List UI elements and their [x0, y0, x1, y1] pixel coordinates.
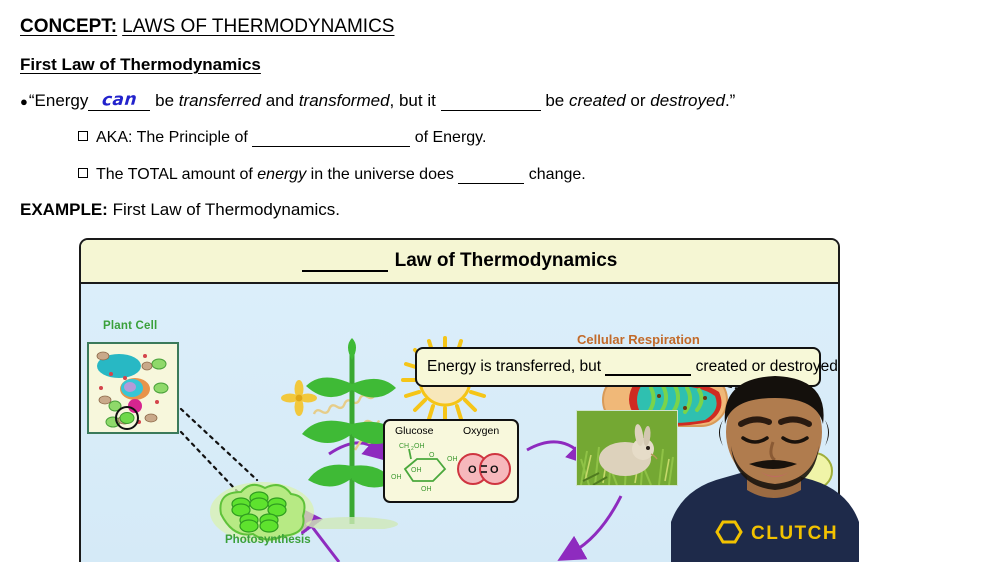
square-bullet-icon — [78, 168, 88, 178]
plant-cell-diagram — [87, 342, 179, 434]
first-law-statement: ●“Energycan be transferred and transform… — [20, 90, 735, 111]
quote-italic-transformed: transformed — [299, 91, 390, 110]
sub-bullet-total: The TOTAL amount of energy in the univer… — [78, 166, 586, 184]
svg-text:OH: OH — [414, 443, 425, 450]
diagram-header: Law of Thermodynamics — [81, 240, 838, 284]
total-text-2: in the universe does — [311, 166, 454, 183]
energy-part1: Energy is transferred, but — [427, 358, 601, 375]
svg-text:OH: OH — [391, 474, 402, 481]
quote-italic-transferred: transferred — [179, 91, 261, 110]
bullet-icon: ● — [20, 94, 28, 109]
concept-title: LAWS OF THERMODYNAMICS — [122, 16, 394, 37]
total-blank — [458, 183, 524, 184]
example-text: First Law of Thermodynamics. — [113, 200, 340, 219]
svg-text:OH: OH — [421, 486, 432, 493]
quote-blank-1 — [441, 110, 541, 111]
aka-text-2: of Energy. — [415, 129, 487, 146]
cellular-respiration-label: Cellular Respiration — [577, 332, 700, 347]
oxygen-label: Oxygen — [463, 425, 499, 437]
aka-text-1: AKA: The Principle of — [96, 129, 248, 146]
quote-part3: and — [266, 91, 294, 110]
instructor-webcam-overlay: CLUTCH — [661, 372, 904, 562]
quote-italic-created: created — [569, 91, 626, 110]
quote-part7: .” — [725, 91, 735, 110]
quote-part6: or — [630, 91, 645, 110]
example-line: EXAMPLE: First Law of Thermodynamics. — [20, 200, 340, 220]
svg-text:CH: CH — [399, 443, 409, 450]
svg-text:O: O — [429, 452, 435, 459]
section-heading: First Law of Thermodynamics — [20, 55, 261, 75]
quote-part1: “Energy — [29, 91, 89, 110]
glucose-label: Glucose — [395, 425, 434, 437]
total-text-1: The TOTAL amount of — [96, 166, 253, 183]
plant-cell-label: Plant Cell — [103, 320, 157, 332]
square-bullet-icon — [78, 131, 88, 141]
svg-text:OH: OH — [411, 467, 422, 474]
svg-text:OH: OH — [447, 456, 458, 463]
diagram-title-blank — [302, 270, 388, 272]
shirt-logo-text: CLUTCH — [751, 523, 838, 544]
svg-text:O: O — [490, 464, 499, 476]
concept-heading: CONCEPT:LAWS OF THERMODYNAMICS — [20, 16, 394, 38]
total-italic-energy: energy — [257, 166, 306, 183]
quote-part2: be — [155, 91, 174, 110]
photosynthesis-label: Photosynthesis — [225, 534, 311, 546]
example-label: EXAMPLE: — [20, 200, 108, 219]
concept-label: CONCEPT: — [20, 16, 117, 37]
sub-bullet-aka: AKA: The Principle of of Energy. — [78, 129, 486, 147]
svg-text:O: O — [468, 464, 477, 476]
quote-part4: , but it — [390, 91, 436, 110]
glucose-oxygen-box: Glucose Oxygen CH2OH O OH OH OH OH — [383, 419, 519, 503]
diagram-title: Law of Thermodynamics — [302, 250, 618, 272]
total-text-3: change. — [529, 166, 586, 183]
aka-blank — [252, 146, 410, 147]
diagram-title-text: Law of Thermodynamics — [395, 250, 618, 271]
handwritten-answer: can — [98, 89, 141, 110]
quote-italic-destroyed: destroyed — [650, 91, 725, 110]
quote-part5: be — [545, 91, 564, 110]
